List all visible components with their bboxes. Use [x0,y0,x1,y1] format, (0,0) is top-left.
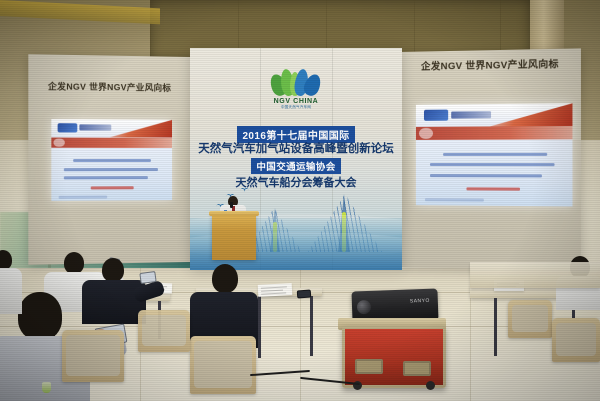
chair [508,300,552,338]
slide-title-bar [51,137,172,148]
chair [190,336,256,394]
case-handle[interactable] [355,359,383,374]
conference-hall-photo: 企发NGV 世界NGV产业风向标 企发NGV 世界NGV产业风向标 [0,0,600,401]
table [470,262,600,288]
phone-held [139,271,156,284]
slide-bullet-icon [419,128,433,139]
handout-paper [258,283,293,297]
left-panel-title: 企发NGV 世界NGV产业风向标 [28,80,190,94]
banner-line-2: 天然气汽车加气站设备高峰暨创新论坛 [190,140,402,156]
phone-on-table [297,290,312,299]
flight-case [342,326,446,388]
chair [138,310,190,352]
slide-body [416,139,573,206]
microphone-icon [230,202,233,208]
slide-logo-icon [57,123,77,132]
slide-header [416,103,573,127]
podium-top [209,211,259,216]
banner-line-3-wrap: 中国交通运输协会 [190,158,402,174]
ngv-logo-subtitle: 中国天然气汽车网 [266,105,326,110]
slide-header [51,119,172,137]
chair [552,318,600,362]
chair [62,330,124,382]
banner-line-3: 中国交通运输协会 [251,158,340,174]
podium [212,214,256,260]
right-panel-title: 企发NGV 世界NGV产业风向标 [400,56,581,73]
right-projected-slide [416,103,573,206]
ngv-logo-acronym: NGV CHINA [266,98,326,105]
ngv-china-logo: NGV CHINA 中国天然气汽车网 [266,67,326,111]
case-handle[interactable] [403,361,431,376]
slide-body [51,148,172,201]
projector-lens-icon [357,300,371,314]
right-projection-panel: 企发NGV 世界NGV产业风向标 [400,48,581,270]
left-projected-slide [51,119,172,201]
left-projection-panel: 企发NGV 世界NGV产业风向标 [28,54,190,265]
slide-title-bar [416,126,573,140]
ngv-leaf-icon [268,67,324,97]
drink-cup [42,382,51,393]
slide-logo-text [80,125,112,131]
slide-bullet-icon [54,138,65,147]
bird-icon [240,188,249,193]
case-wheel [426,381,435,390]
slide-logo-icon [424,109,449,120]
projector-brand-label: SANYO [410,298,430,305]
slide-logo-text [451,111,491,119]
